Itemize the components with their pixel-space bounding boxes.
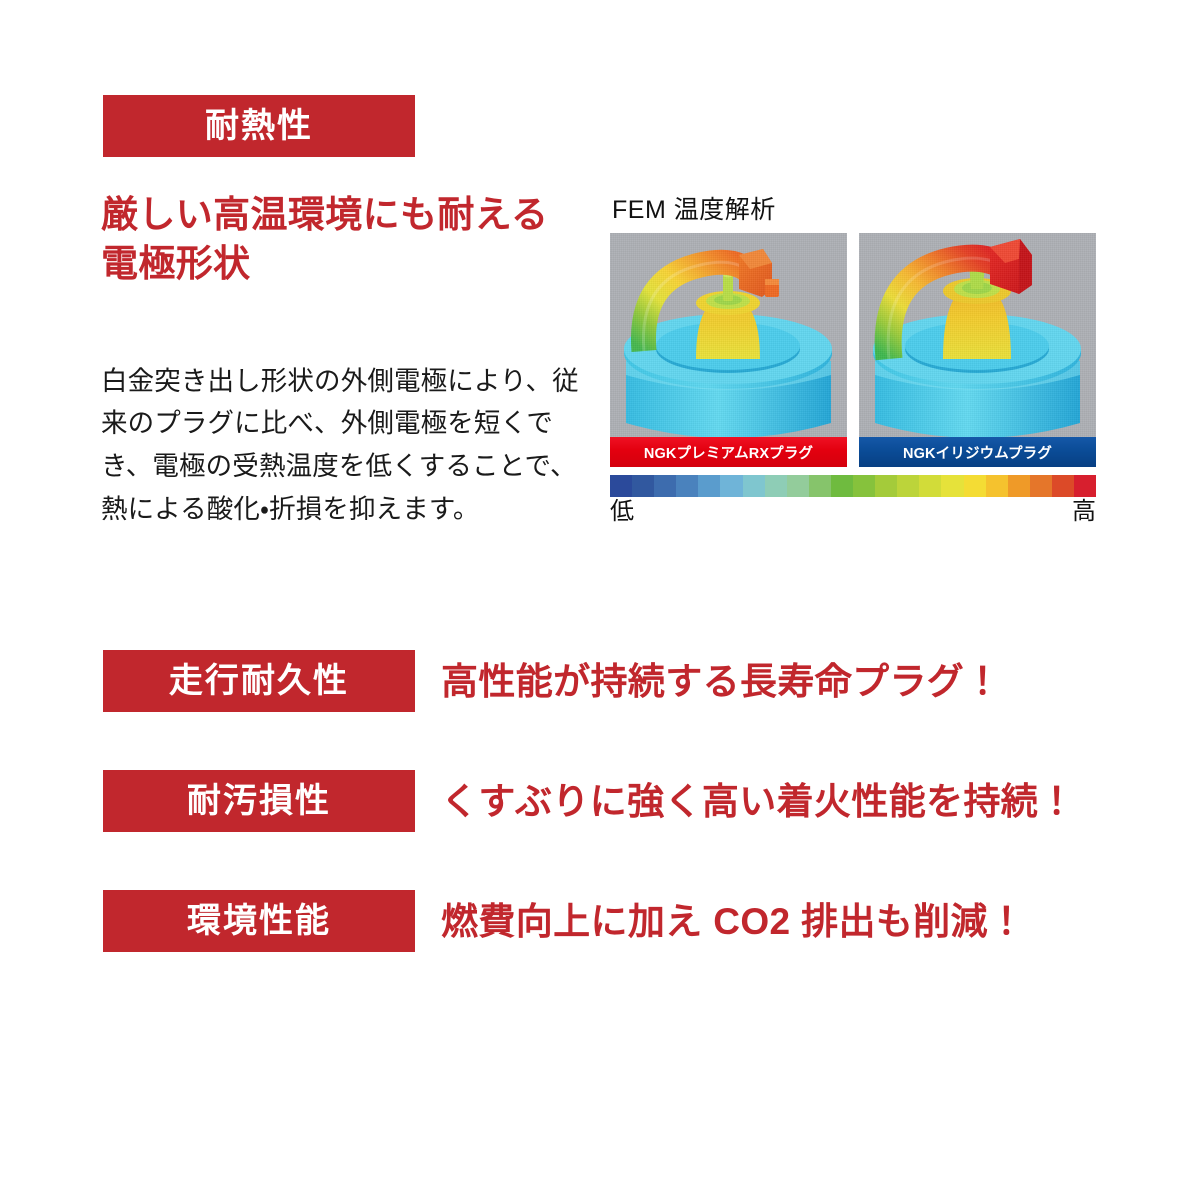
fem-caption-premium-rx: NGKプレミアムRXプラグ [610,437,847,467]
scale-segment-18 [1008,475,1030,497]
scale-segment-17 [986,475,1008,497]
scale-segment-1 [632,475,654,497]
scale-segment-20 [1052,475,1074,497]
section-badge-label: 耐熱性 [205,109,313,143]
feature-badge-label: 耐汚損性 [187,784,331,818]
scale-high-label: 高 [1072,499,1096,525]
heat-headline-line2: 電極形状 [101,239,601,288]
scale-segment-11 [853,475,875,497]
feature-row-fouling-resistance: 耐汚損性 くすぶりに強く高い着火性能を持続！ [103,770,1076,832]
feature-text: 高性能が持続する長寿命プラグ！ [441,663,1002,700]
scale-segment-13 [897,475,919,497]
feature-badge: 耐汚損性 [103,770,415,832]
feature-text: くすぶりに強く高い着火性能を持続！ [441,783,1076,820]
product-feature-page: 耐熱性 厳しい高温環境にも耐える 電極形状 白金突き出し形状の外側電極により、従… [0,0,1200,1200]
scale-segment-21 [1074,475,1096,497]
fem-analysis-block: FEM 温度解析 [610,198,1096,525]
feature-badge-label: 環境性能 [187,904,331,938]
scale-segment-12 [875,475,897,497]
scale-segment-5 [720,475,742,497]
scale-segment-9 [809,475,831,497]
fem-title: FEM 温度解析 [612,198,1096,223]
temperature-scale-bar [610,475,1096,497]
fem-caption-iridium: NGKイリジウムプラグ [859,437,1096,467]
feature-text: 燃費向上に加え CO2 排出も削減！ [441,903,1025,940]
scale-segment-14 [919,475,941,497]
fem-caption-label: NGKプレミアムRXプラグ [644,442,813,463]
scale-segment-4 [698,475,720,497]
scale-segment-15 [941,475,963,497]
feature-row-driving-durability: 走行耐久性 高性能が持続する長寿命プラグ！ [103,650,1002,712]
fem-image-iridium [859,233,1096,437]
scale-segment-10 [831,475,853,497]
fem-image-premium-rx [610,233,847,437]
scale-segment-6 [743,475,765,497]
scale-low-label: 低 [610,499,634,525]
feature-badge: 環境性能 [103,890,415,952]
heat-headline: 厳しい高温環境にも耐える 電極形状 [101,190,601,288]
heat-headline-line1: 厳しい高温環境にも耐える [101,190,601,239]
scale-segment-0 [610,475,632,497]
scale-segment-7 [765,475,787,497]
temperature-scale-labels: 低 高 [610,499,1096,525]
feature-badge-label: 走行耐久性 [169,664,349,698]
fem-panel-iridium: NGKイリジウムプラグ [859,233,1096,467]
scale-segment-19 [1030,475,1052,497]
heat-body-text: 白金突き出し形状の外側電極により、従来のプラグに比べ、外側電極を短くでき、電極の… [101,360,591,532]
feature-badge: 走行耐久性 [103,650,415,712]
scale-segment-3 [676,475,698,497]
section-badge-heat-resistance: 耐熱性 [103,95,415,157]
fem-panel-row: NGKプレミアムRXプラグ [610,233,1096,467]
fem-caption-label: NGKイリジウムプラグ [903,442,1052,463]
fem-panel-premium-rx: NGKプレミアムRXプラグ [610,233,847,467]
scale-segment-8 [787,475,809,497]
feature-row-environmental: 環境性能 燃費向上に加え CO2 排出も削減！ [103,890,1025,952]
scale-segment-2 [654,475,676,497]
scale-segment-16 [964,475,986,497]
